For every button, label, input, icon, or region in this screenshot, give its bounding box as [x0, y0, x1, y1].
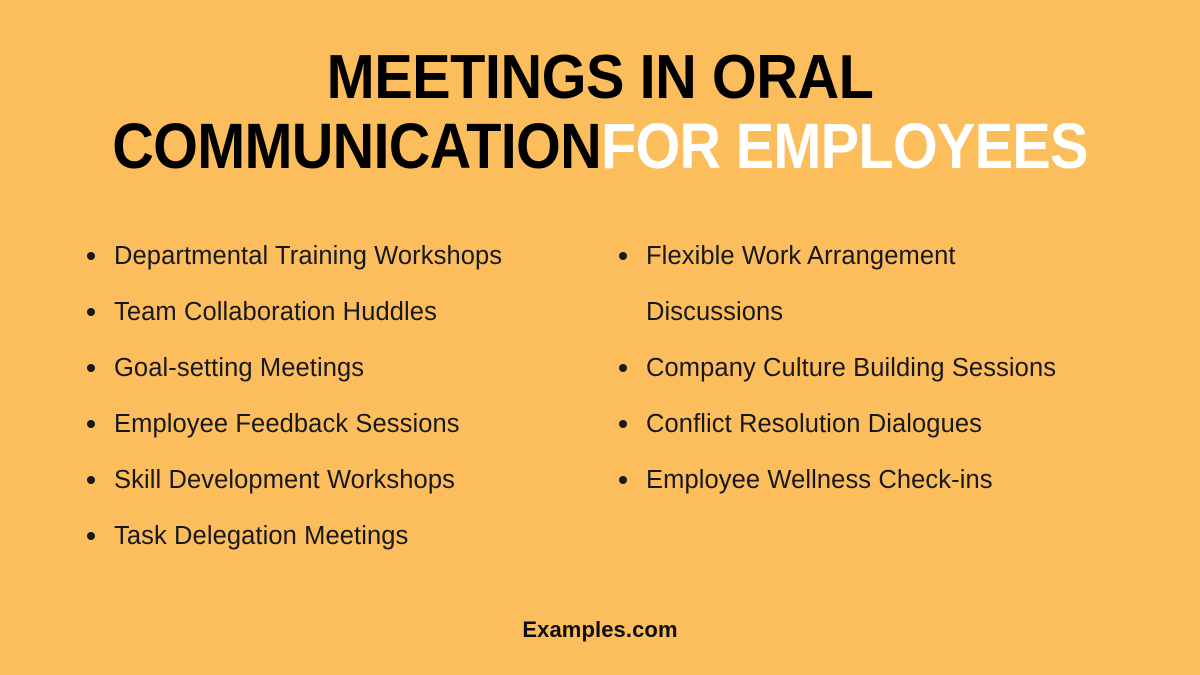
list-item-label: Goal-setting Meetings	[114, 340, 600, 396]
bullet-dot-icon	[87, 308, 95, 316]
list-item: Task Delegation Meetings	[82, 508, 600, 564]
title-line-2: COMMUNICATIONFOR EMPLOYEES	[60, 112, 1140, 180]
slide-canvas: MEETINGS IN ORAL COMMUNICATIONFOR EMPLOY…	[0, 0, 1200, 675]
content-columns: Departmental Training Workshops Team Col…	[0, 228, 1200, 568]
left-bullet-list: Departmental Training Workshops Team Col…	[82, 228, 600, 564]
list-item: Skill Development Workshops	[82, 452, 600, 508]
list-item-label: Conflict Resolution Dialogues	[646, 396, 1200, 452]
right-column: Flexible Work Arrangement Discussions Co…	[600, 228, 1200, 508]
list-item-label: Team Collaboration Huddles	[114, 284, 600, 340]
bullet-dot-icon	[87, 420, 95, 428]
list-item-label: Company Culture Building Sessions	[646, 340, 1200, 396]
bullet-dot-icon	[87, 252, 95, 260]
title-line-2-primary: COMMUNICATION	[112, 110, 601, 182]
list-item: Employee Wellness Check-ins	[614, 452, 1200, 508]
bullet-dot-icon	[619, 420, 627, 428]
list-item: Team Collaboration Huddles	[82, 284, 600, 340]
list-item: Flexible Work Arrangement Discussions	[614, 228, 1200, 340]
list-item: Conflict Resolution Dialogues	[614, 396, 1200, 452]
list-item-label: Flexible Work Arrangement Discussions	[646, 228, 1006, 340]
list-item-label: Skill Development Workshops	[114, 452, 600, 508]
list-item: Goal-setting Meetings	[82, 340, 600, 396]
bullet-dot-icon	[619, 364, 627, 372]
bullet-dot-icon	[87, 476, 95, 484]
list-item-label: Employee Feedback Sessions	[114, 396, 600, 452]
list-item: Employee Feedback Sessions	[82, 396, 600, 452]
list-item: Departmental Training Workshops	[82, 228, 600, 284]
list-item-label: Departmental Training Workshops	[114, 228, 600, 284]
bullet-dot-icon	[619, 476, 627, 484]
brand-label: Examples.com	[522, 617, 677, 642]
bullet-dot-icon	[87, 532, 95, 540]
list-item-label: Employee Wellness Check-ins	[646, 452, 1200, 508]
list-item-label: Task Delegation Meetings	[114, 508, 600, 564]
bullet-dot-icon	[619, 252, 627, 260]
title-line-1: MEETINGS IN ORAL	[42, 44, 1158, 112]
bullet-dot-icon	[87, 364, 95, 372]
right-bullet-list: Flexible Work Arrangement Discussions Co…	[614, 228, 1200, 508]
left-column: Departmental Training Workshops Team Col…	[0, 228, 600, 564]
title-line-2-accent: FOR EMPLOYEES	[601, 110, 1088, 182]
page-title: MEETINGS IN ORAL COMMUNICATIONFOR EMPLOY…	[0, 44, 1200, 180]
list-item: Company Culture Building Sessions	[614, 340, 1200, 396]
footer: Examples.com	[0, 617, 1200, 643]
